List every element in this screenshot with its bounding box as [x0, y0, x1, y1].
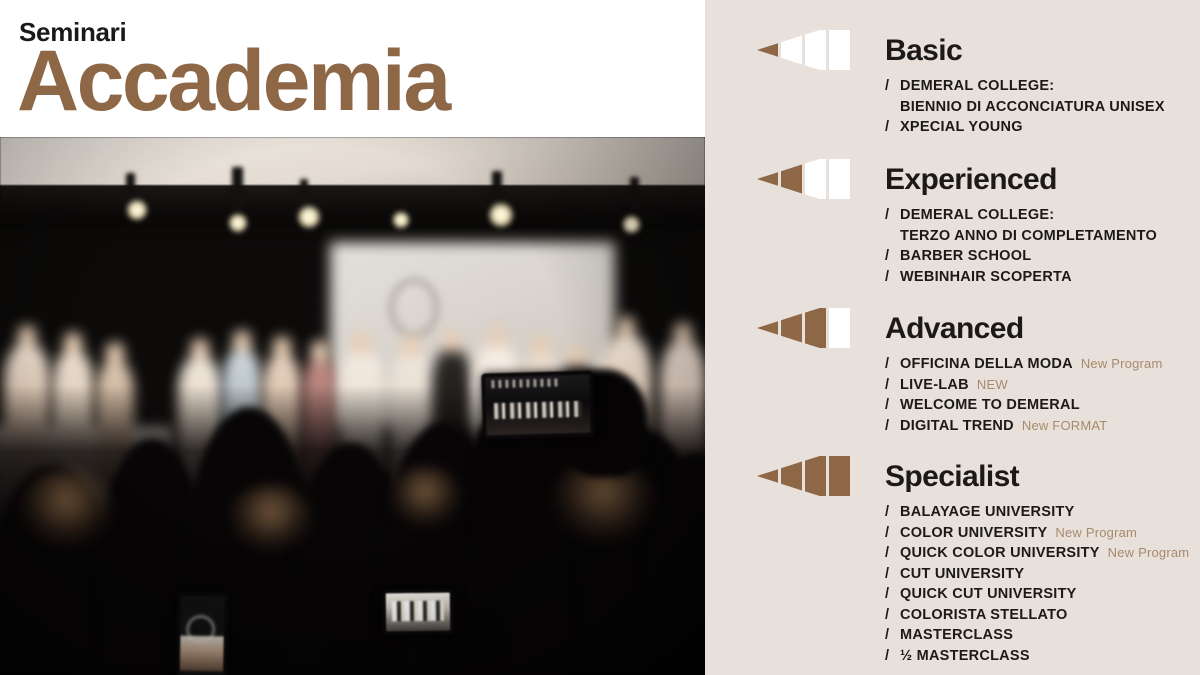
course-label: BARBER SCHOOL — [900, 246, 1031, 267]
list-item[interactable]: / QUICK COLOR UNIVERSITY New Program — [885, 543, 1189, 564]
bullet-marker: / — [885, 523, 900, 544]
bullet-marker: / — [885, 625, 900, 646]
bullet-marker: / — [885, 375, 900, 396]
level-chevron-icon — [757, 30, 853, 70]
list-item[interactable]: / CUT UNIVERSITY — [885, 564, 1189, 585]
runway-photo — [0, 137, 705, 675]
bullet-marker: / — [885, 117, 900, 138]
course-label-continued: TERZO ANNO DI COMPLETAMENTO — [900, 226, 1157, 247]
list-item[interactable]: / BALAYAGE UNIVERSITY — [885, 502, 1189, 523]
bullet-marker: / — [885, 416, 900, 437]
bullet-marker: / — [885, 584, 900, 605]
course-label: OFFICINA DELLA MODA — [900, 354, 1073, 375]
left-panel: Seminari Accademia — [0, 0, 705, 675]
course-label: XPECIAL YOUNG — [900, 117, 1023, 138]
course-label: QUICK CUT UNIVERSITY — [900, 584, 1077, 605]
list-item[interactable]: / ½ MASTERCLASS — [885, 646, 1189, 667]
level-course-list: / DEMERAL COLLEGE: BIENNIO DI ACCONCIATU… — [885, 76, 1165, 138]
list-item[interactable]: / COLOR UNIVERSITY New Program — [885, 523, 1189, 544]
list-item[interactable]: / BARBER SCHOOL — [885, 246, 1157, 267]
level-chevron-icon — [757, 159, 853, 199]
course-label-continued: BIENNIO DI ACCONCIATURA UNISEX — [900, 97, 1165, 118]
list-item[interactable]: / DIGITAL TREND New FORMAT — [885, 416, 1163, 437]
level-course-list: / OFFICINA DELLA MODA New Program / LIVE… — [885, 354, 1163, 436]
presentation-slide: Seminari Accademia Basic / DEMERAL COLLE… — [0, 0, 1200, 675]
level-title: Experienced — [885, 165, 1057, 195]
list-item-continuation: BIENNIO DI ACCONCIATURA UNISEX — [885, 97, 1165, 118]
bullet-marker: / — [885, 564, 900, 585]
bullet-marker: / — [885, 76, 900, 97]
level-course-list: / DEMERAL COLLEGE: TERZO ANNO DI COMPLET… — [885, 205, 1157, 287]
list-item[interactable]: / DEMERAL COLLEGE: — [885, 205, 1157, 226]
bullet-marker: / — [885, 543, 900, 564]
bullet-marker: / — [885, 246, 900, 267]
level-title: Advanced — [885, 314, 1024, 344]
course-label: CUT UNIVERSITY — [900, 564, 1024, 585]
list-item[interactable]: / OFFICINA DELLA MODA New Program — [885, 354, 1163, 375]
photo-vignette — [0, 137, 705, 675]
status-badge: New FORMAT — [1022, 416, 1108, 437]
list-item[interactable]: / QUICK CUT UNIVERSITY — [885, 584, 1189, 605]
course-label: BALAYAGE UNIVERSITY — [900, 502, 1075, 523]
course-levels-panel: Basic / DEMERAL COLLEGE: BIENNIO DI ACCO… — [705, 0, 1200, 675]
bullet-marker: / — [885, 395, 900, 416]
bullet-marker: / — [885, 646, 900, 667]
course-label: WEBINHAIR SCOPERTA — [900, 267, 1072, 288]
bullet-marker: / — [885, 605, 900, 626]
list-item[interactable]: / COLORISTA STELLATO — [885, 605, 1189, 626]
course-label: MASTERCLASS — [900, 625, 1013, 646]
course-label: LIVE-LAB — [900, 375, 969, 396]
bullet-marker: / — [885, 502, 900, 523]
status-badge: New Program — [1055, 523, 1137, 544]
course-label: DIGITAL TREND — [900, 416, 1014, 437]
bullet-marker: / — [885, 205, 900, 226]
status-badge: NEW — [977, 375, 1008, 396]
list-item-continuation: TERZO ANNO DI COMPLETAMENTO — [885, 226, 1157, 247]
level-title: Basic — [885, 36, 962, 66]
list-item[interactable]: / WEBINHAIR SCOPERTA — [885, 267, 1157, 288]
level-title: Specialist — [885, 462, 1019, 492]
list-item[interactable]: / WELCOME TO DEMERAL — [885, 395, 1163, 416]
bullet-marker: / — [885, 354, 900, 375]
course-label: WELCOME TO DEMERAL — [900, 395, 1080, 416]
status-badge: New Program — [1081, 354, 1163, 375]
course-label: ½ MASTERCLASS — [900, 646, 1030, 667]
status-badge: New Program — [1108, 543, 1190, 564]
bullet-marker: / — [885, 267, 900, 288]
course-label: QUICK COLOR UNIVERSITY — [900, 543, 1100, 564]
page-title: Accademia — [17, 38, 449, 124]
course-label: DEMERAL COLLEGE: — [900, 205, 1054, 226]
list-item[interactable]: / DEMERAL COLLEGE: — [885, 76, 1165, 97]
list-item[interactable]: / LIVE-LAB NEW — [885, 375, 1163, 396]
title-band: Seminari Accademia — [0, 0, 705, 137]
level-course-list: / BALAYAGE UNIVERSITY / COLOR UNIVERSITY… — [885, 502, 1189, 666]
course-label: COLORISTA STELLATO — [900, 605, 1067, 626]
list-item[interactable]: / XPECIAL YOUNG — [885, 117, 1165, 138]
course-label: COLOR UNIVERSITY — [900, 523, 1047, 544]
level-chevron-icon — [757, 308, 853, 348]
list-item[interactable]: / MASTERCLASS — [885, 625, 1189, 646]
course-label: DEMERAL COLLEGE: — [900, 76, 1054, 97]
level-chevron-icon — [757, 456, 853, 496]
